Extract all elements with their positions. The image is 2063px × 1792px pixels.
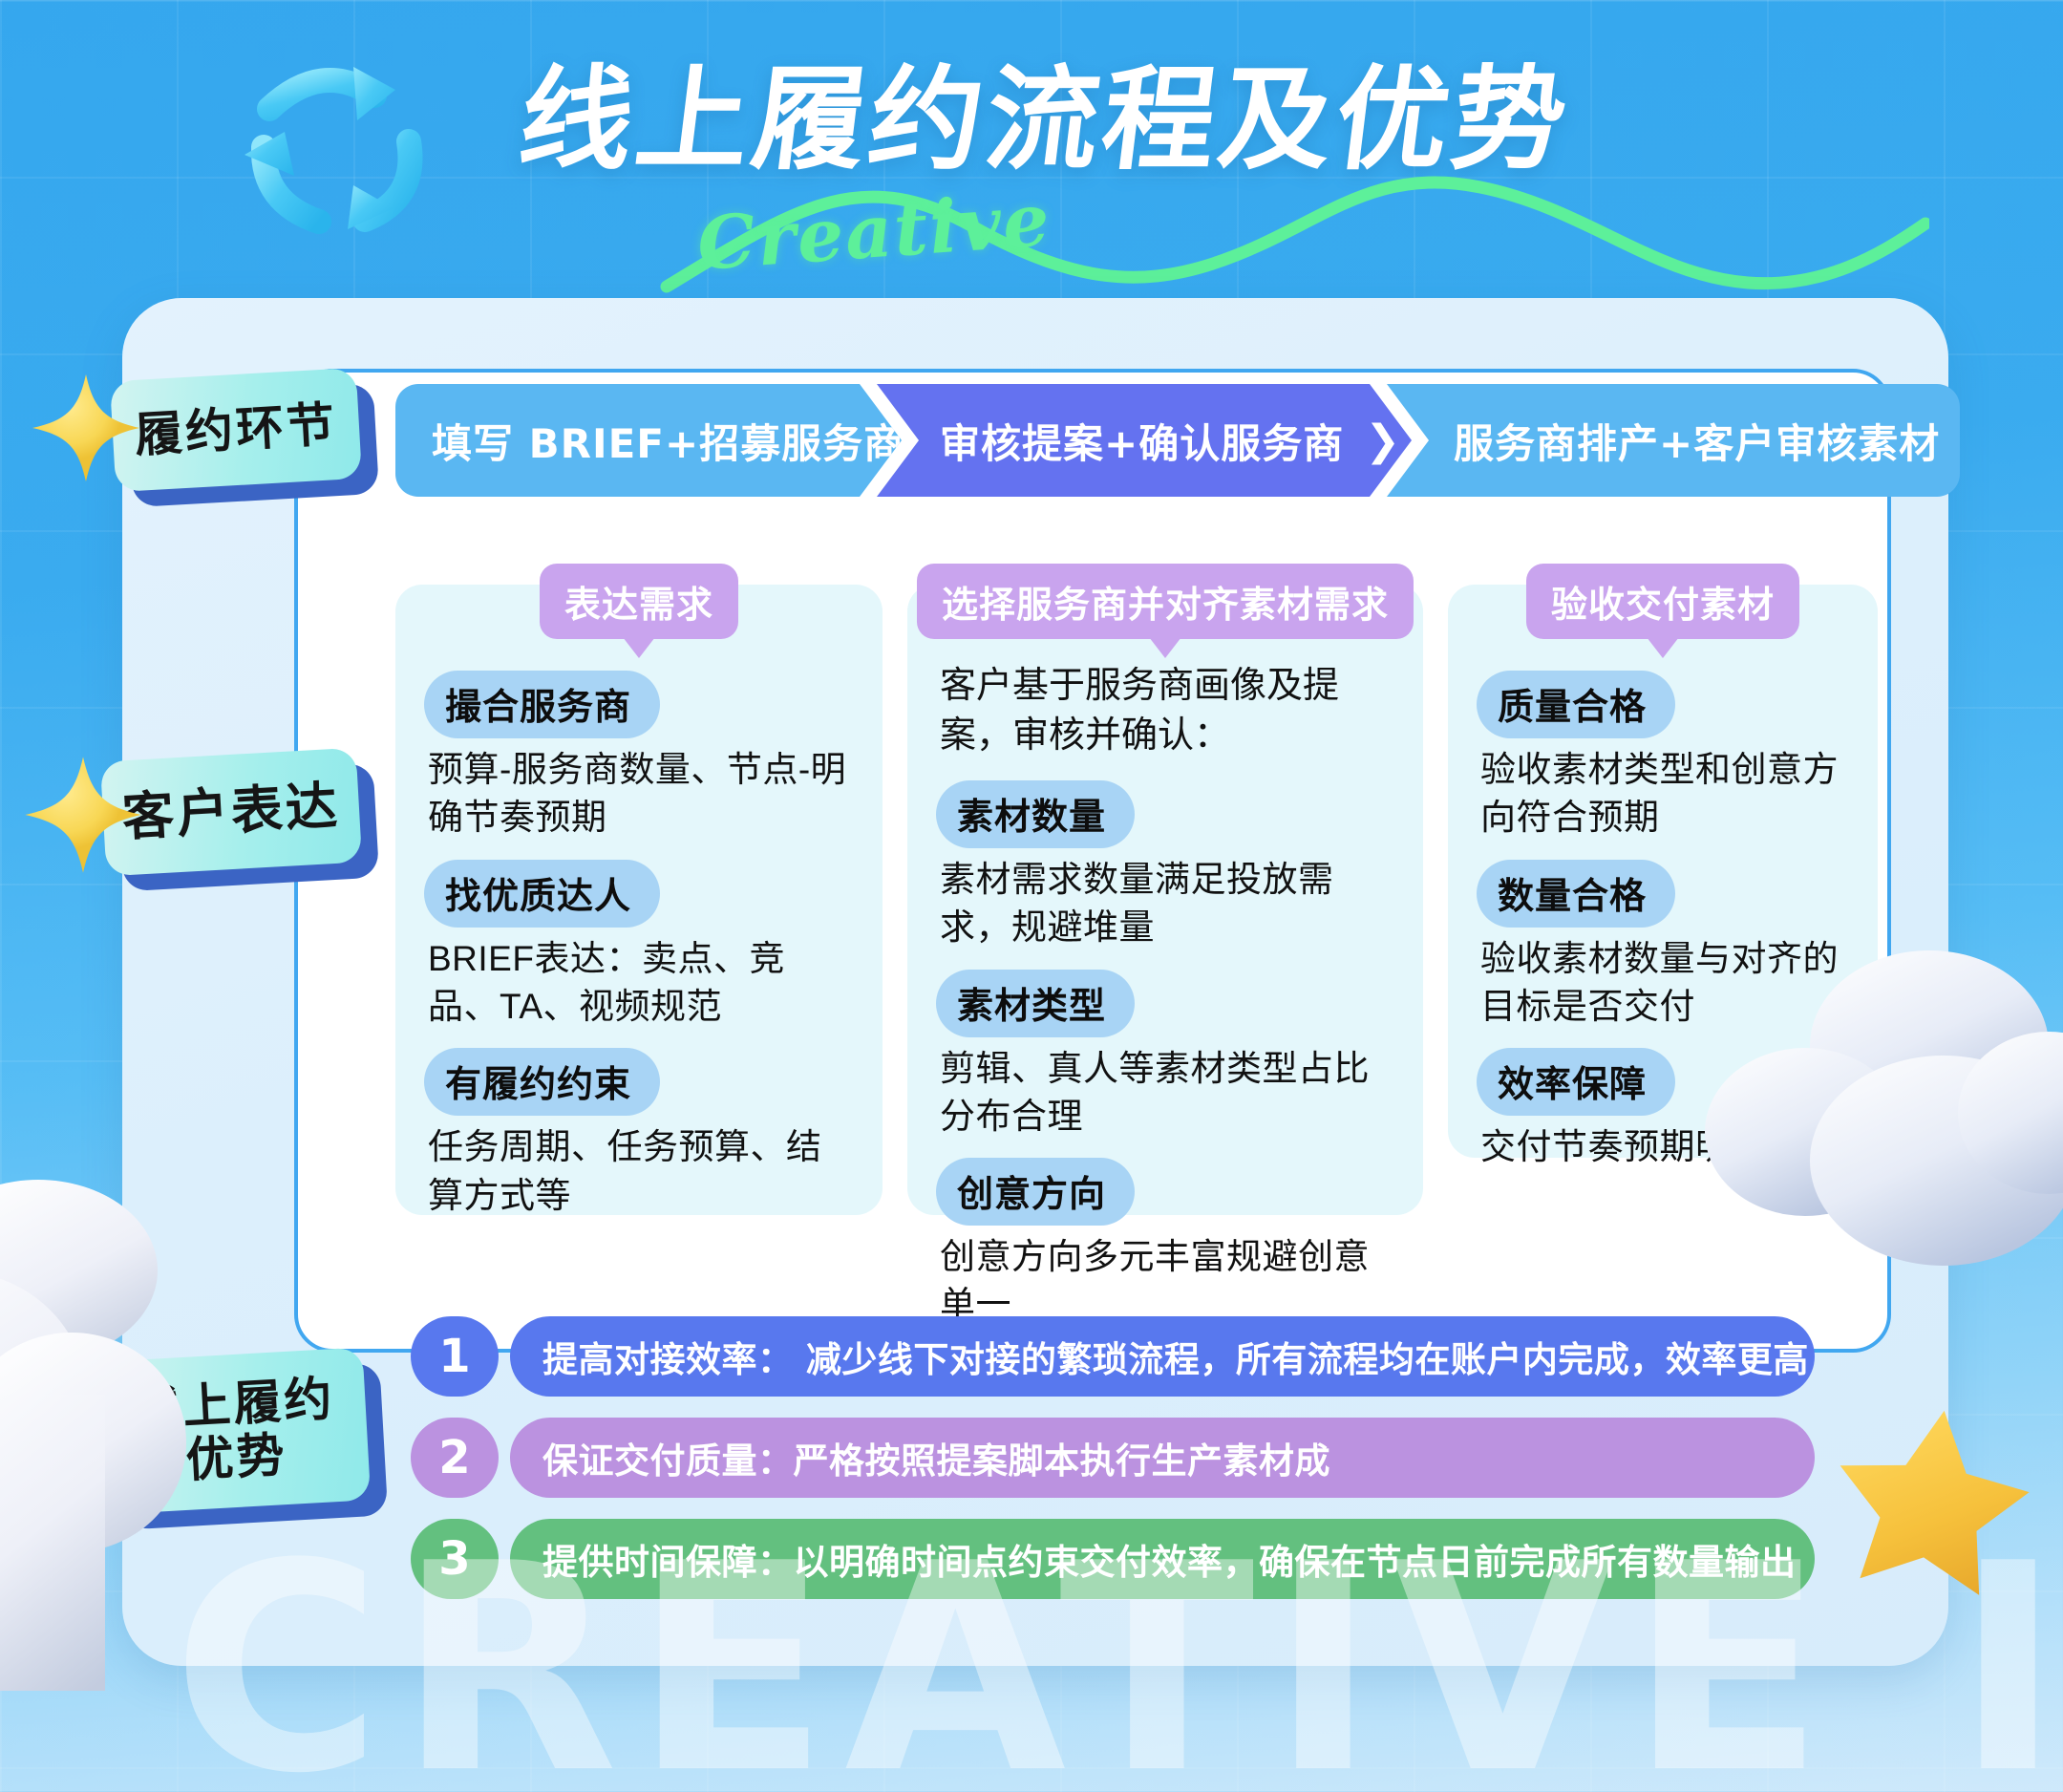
text-1-2: BRIEF表达：卖点、竞品、TA、视频规范: [428, 935, 854, 1032]
page-title: 线上履约流程及优势: [512, 48, 1885, 191]
four-point-star-icon: [29, 371, 143, 485]
advantage-2-number: 2: [411, 1418, 499, 1498]
column-1-body: 撮合服务商 预算-服务商数量、节点-明确节奏预期 找优质达人 BRIEF表达：卖…: [395, 585, 883, 1215]
four-point-star-icon: [21, 753, 145, 877]
column-select-provider: 选择服务商并对齐素材需求 客户基于服务商画像及提案，审核并确认： 素材数量 素材…: [907, 585, 1423, 1215]
text-3-1: 验收素材类型和创意方向符合预期: [1480, 746, 1849, 843]
advantage-3-number: 3: [411, 1519, 499, 1599]
column-2-header: 选择服务商并对齐素材需求: [917, 564, 1414, 639]
advantage-1-number: 1: [411, 1316, 499, 1397]
cloud-decoration-right: [1691, 936, 2063, 1299]
column-3-header: 验收交付素材: [1526, 564, 1799, 639]
text-2-3: 创意方向多元丰富规避创意单一: [940, 1233, 1394, 1330]
advantage-2-text: 保证交付质量：严格按照提案脚本执行生产素材成: [510, 1418, 1815, 1498]
flow-step-2[interactable]: 审核提案+确认服务商 ❯: [877, 384, 1412, 497]
advantages-list: 1 提高对接效率： 减少线下对接的繁琐流程，所有流程均在账户内完成，效率更高 2…: [411, 1316, 1815, 1620]
pill-3-1: 质量合格: [1477, 671, 1675, 738]
pill-2-2: 素材类型: [936, 970, 1135, 1037]
advantage-row-3: 3 提供时间保障：以明确时间点约束交付效率，确保在节点日前完成所有数量输出: [411, 1519, 1815, 1599]
pill-2-1: 素材数量: [936, 780, 1135, 848]
flow-steps-row: 填写 BRIEF+招募服务商 ❯ 审核提案+确认服务商 ❯ 服务商排产+客户审核…: [395, 384, 1960, 497]
side-label-customer-text: 客户表达: [120, 777, 341, 846]
advantage-1-text: 提高对接效率： 减少线下对接的繁琐流程，所有流程均在账户内完成，效率更高: [510, 1316, 1815, 1397]
column-express-demand: 表达需求 撮合服务商 预算-服务商数量、节点-明确节奏预期 找优质达人 BRIE…: [395, 585, 883, 1215]
five-point-star-decoration: [1832, 1397, 2032, 1597]
pill-1-1: 撮合服务商: [424, 671, 660, 738]
flow-step-3-label: 服务商排产+客户审核素材: [1454, 412, 1940, 470]
text-1-1: 预算-服务商数量、节点-明确节奏预期: [428, 746, 854, 843]
column-2-body: 客户基于服务商画像及提案，审核并确认： 素材数量 素材需求数量满足投放需求，规避…: [907, 585, 1423, 1215]
side-label-stage: 履约环节: [113, 374, 359, 485]
pill-3-2: 数量合格: [1477, 860, 1675, 928]
pill-1-3: 有履约约束: [424, 1048, 660, 1116]
column-1-header: 表达需求: [540, 564, 738, 639]
pill-3-3: 效率保障: [1477, 1048, 1675, 1116]
cloud-decoration-left: [0, 1156, 296, 1691]
column-2-intro: 客户基于服务商画像及提案，审核并确认：: [940, 661, 1394, 761]
advantage-3-text: 提供时间保障：以明确时间点约束交付效率，确保在节点日前完成所有数量输出: [510, 1519, 1815, 1599]
text-2-1: 素材需求数量满足投放需求，规避堆量: [940, 856, 1394, 952]
text-2-2: 剪辑、真人等素材类型占比分布合理: [940, 1045, 1394, 1141]
content-columns: 表达需求 撮合服务商 预算-服务商数量、节点-明确节奏预期 找优质达人 BRIE…: [395, 585, 1904, 1215]
pill-1-2: 找优质达人: [424, 860, 660, 928]
text-1-3: 任务周期、任务预算、结算方式等: [428, 1123, 854, 1220]
page-header: 线上履约流程及优势 Creative: [0, 0, 2063, 287]
side-label-stage-text: 履约环节: [134, 397, 339, 462]
advantage-row-2: 2 保证交付质量：严格按照提案脚本执行生产素材成: [411, 1418, 1815, 1498]
flow-step-1-label: 填写 BRIEF+招募服务商: [432, 412, 904, 470]
cycle-arrows-icon: [231, 40, 441, 241]
advantage-row-1: 1 提高对接效率： 减少线下对接的繁琐流程，所有流程均在账户内完成，效率更高: [411, 1316, 1815, 1397]
flow-step-1[interactable]: 填写 BRIEF+招募服务商 ❯: [395, 384, 902, 497]
chevron-right-icon: ❯: [1365, 416, 1401, 465]
pill-2-3: 创意方向: [936, 1158, 1135, 1226]
side-label-plate: 履约环节: [110, 368, 362, 492]
flow-step-2-label: 审核提案+确认服务商: [940, 412, 1344, 470]
flow-step-3[interactable]: 服务商排产+客户审核素材: [1387, 384, 1960, 497]
